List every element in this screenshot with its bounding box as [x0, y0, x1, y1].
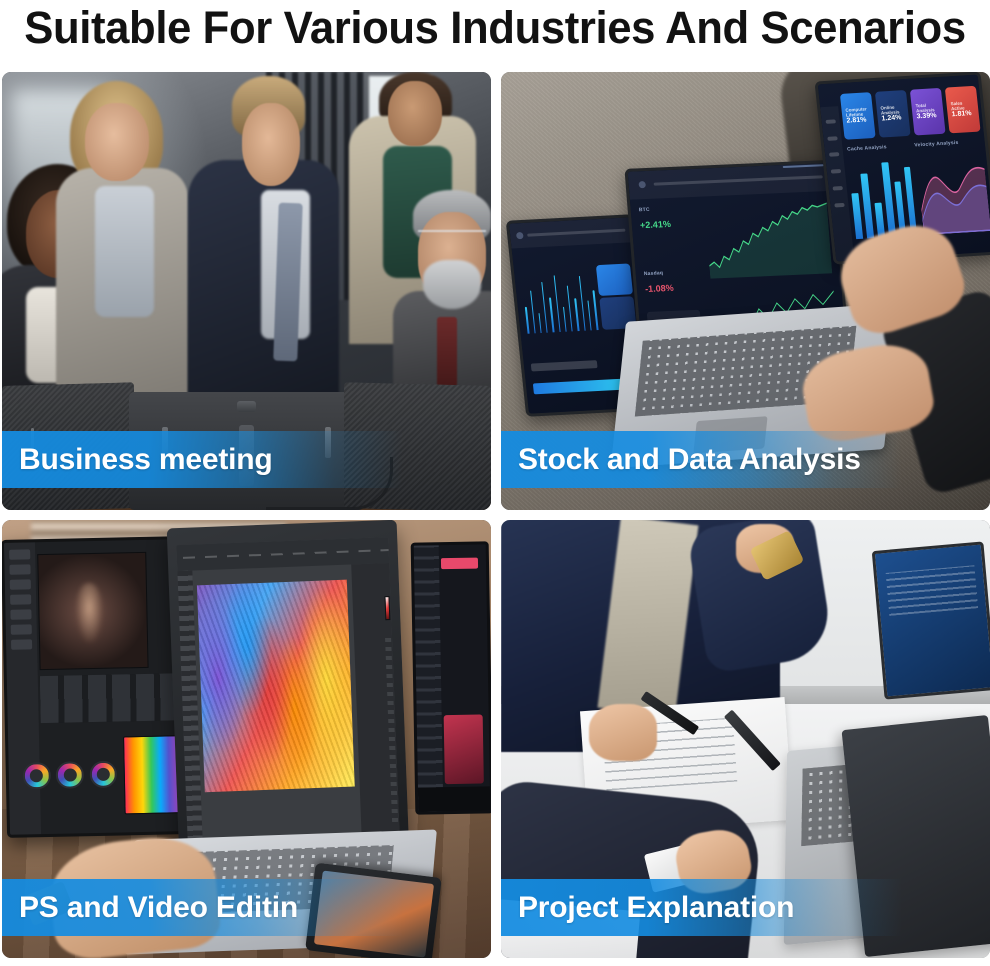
- toolbar-button[interactable]: [10, 579, 32, 589]
- color-wheel-gain[interactable]: [90, 760, 118, 788]
- scenario-panel-business-meeting: Business meeting: [2, 72, 491, 510]
- kpi-value: 3.39%: [916, 113, 940, 121]
- panel-caption-ps-video-editing: PS and Video Editin: [2, 879, 491, 936]
- color-scope: [124, 734, 180, 814]
- extender-hinge: [237, 401, 256, 412]
- laptop-lid-photoshop: [167, 520, 409, 861]
- media-player-bar[interactable]: [418, 786, 491, 811]
- kpi-row: Computer Lifetime 2.81% Online Analysis …: [839, 86, 980, 140]
- toolbar-button[interactable]: [10, 594, 32, 604]
- sidebar-item[interactable]: [834, 203, 844, 208]
- left-extender-screen-video-editor[interactable]: [2, 536, 188, 838]
- color-swatch[interactable]: [384, 596, 390, 620]
- kpi-card-online-analysis: Online Analysis 1.24%: [874, 90, 910, 138]
- ticker-change: +2.41%: [640, 219, 672, 230]
- caption-label: Stock and Data Analysis: [501, 443, 861, 477]
- price-line-chart: [704, 201, 832, 279]
- scenario-panel-ps-video-editing: PS and Video Editin: [2, 520, 491, 958]
- media-sidebar[interactable]: [413, 545, 442, 811]
- caption-label: Project Explanation: [501, 891, 794, 925]
- volume-bar-chart: [521, 265, 598, 333]
- video-timeline[interactable]: [40, 673, 179, 723]
- scenario-grid: Business meeting: [2, 72, 988, 958]
- person-2-shirt: [95, 186, 154, 317]
- kpi-value: 1.81%: [951, 111, 975, 119]
- person-5-glasses: [418, 230, 486, 248]
- laptop-lid-screen[interactable]: [871, 542, 990, 700]
- nav-line: [653, 176, 823, 186]
- video-preview-monitor: [38, 551, 149, 670]
- scenario-panel-project-explanation: Project Explanation: [501, 520, 990, 958]
- area-chart-title: Velocity Analysis: [914, 140, 959, 149]
- photoshop-canvas-artwork: [197, 580, 355, 793]
- kpi-card: [596, 263, 633, 296]
- toolbar-button[interactable]: [10, 549, 32, 559]
- kpi-card-sales-active: Sales Active 1.81%: [945, 86, 981, 134]
- kpi-card-total-analysis: Total Analysis 3.39%: [910, 88, 946, 136]
- bar-chart-title: Cache Analysis: [847, 145, 887, 153]
- person-1-writing-hand: [589, 704, 657, 761]
- caption-label: PS and Video Editin: [2, 891, 298, 925]
- ticker-label: BTC: [639, 207, 650, 213]
- kpi-value: 2.81%: [846, 117, 870, 125]
- scenario-panel-stock-data-analysis: BTC +2.41% Nasdaq -1.08%: [501, 72, 990, 510]
- photoshop-window[interactable]: [177, 537, 400, 841]
- right-extender-screen-media-app[interactable]: [410, 541, 491, 814]
- velocity-analysis-area-chart: [915, 153, 990, 235]
- kpi-value: 1.24%: [881, 115, 905, 123]
- sidebar-item[interactable]: [829, 153, 839, 158]
- toolbar-button[interactable]: [10, 564, 32, 574]
- color-wheels-panel[interactable]: [15, 730, 125, 820]
- panel-caption-project-explanation: Project Explanation: [501, 879, 990, 936]
- page-title: Suitable For Various Industries And Scen…: [15, 0, 975, 58]
- panel-caption-stock-data-analysis: Stock and Data Analysis: [501, 431, 990, 488]
- meta-line: [531, 360, 597, 371]
- person-2-face: [85, 103, 149, 182]
- kpi-card-computer-lifetime: Computer Lifetime 2.81%: [839, 92, 875, 140]
- symbol-label: Nasdaq: [644, 270, 664, 277]
- toolbar-button[interactable]: [11, 624, 33, 634]
- sidebar-item[interactable]: [825, 120, 835, 125]
- symbol-change: -1.08%: [645, 283, 674, 294]
- photoshop-panels[interactable]: [351, 564, 399, 835]
- status-dot: [639, 181, 647, 188]
- product-feature-page: Suitable For Various Industries And Scen…: [0, 0, 990, 966]
- person-3-face: [242, 103, 301, 186]
- header-line: [527, 228, 625, 236]
- sidebar-item[interactable]: [832, 186, 842, 191]
- dashboard-header: [509, 217, 633, 248]
- sidebar-item[interactable]: [830, 170, 840, 175]
- person-4-face: [388, 81, 442, 147]
- person-5-tie: [437, 317, 457, 387]
- dashboard-navbar: [628, 163, 834, 200]
- color-wheel-gamma[interactable]: [56, 760, 84, 788]
- left-kpi-stack: [596, 263, 637, 329]
- person-5-beard: [423, 260, 482, 308]
- media-card-recent[interactable]: [444, 714, 484, 784]
- account-pill[interactable]: [783, 164, 824, 168]
- sidebar-item[interactable]: [827, 136, 837, 141]
- toolbar-button[interactable]: [11, 639, 33, 649]
- panel-caption-business-meeting: Business meeting: [2, 431, 491, 488]
- status-dot: [516, 231, 524, 238]
- toolbar-button[interactable]: [11, 609, 33, 619]
- caption-label: Business meeting: [2, 443, 273, 477]
- media-section-popular: [441, 558, 477, 569]
- layers-panel[interactable]: [385, 634, 398, 823]
- color-wheel-lift[interactable]: [23, 761, 51, 789]
